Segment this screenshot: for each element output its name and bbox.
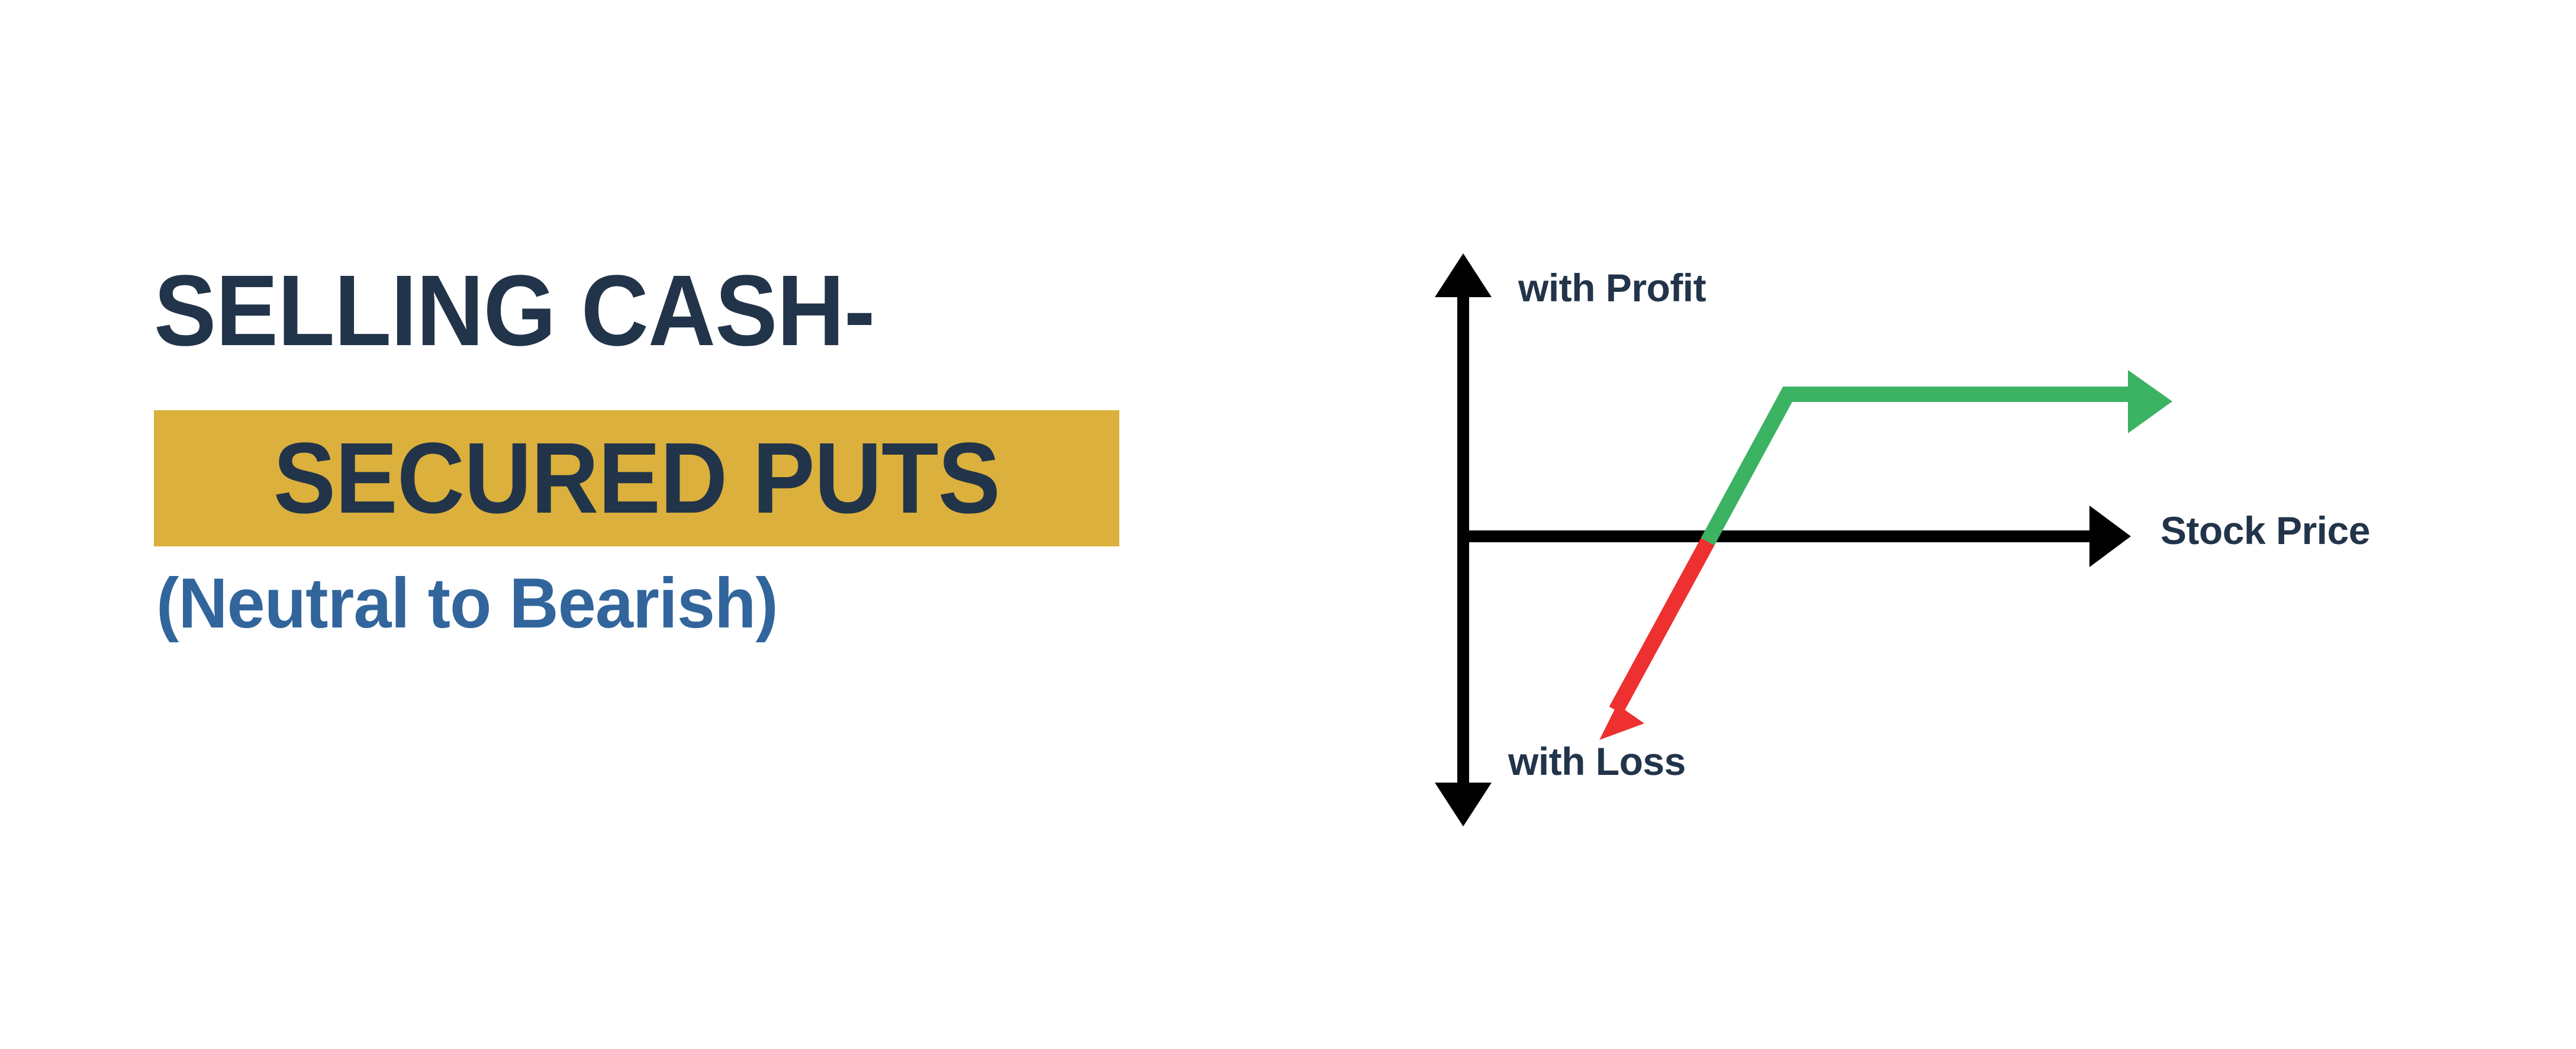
title-subtitle: (Neutral to Bearish) [156,562,778,644]
title-highlight-band: SECURED PUTS [154,410,1119,546]
x-axis-arrow-icon [1457,506,2131,567]
y-axis-profit-label: with Profit [1518,265,1706,310]
loss-leg-line [1599,536,1711,740]
y-axis-loss-label: with Loss [1508,739,1686,784]
title-line-1: SELLING CASH- [154,260,875,361]
title-line-2: SECURED PUTS [188,410,1086,546]
slide-canvas: SELLING CASH- SECURED PUTS (Neutral to B… [0,0,2576,1049]
x-axis-stock-price-label: Stock Price [2160,508,2370,553]
